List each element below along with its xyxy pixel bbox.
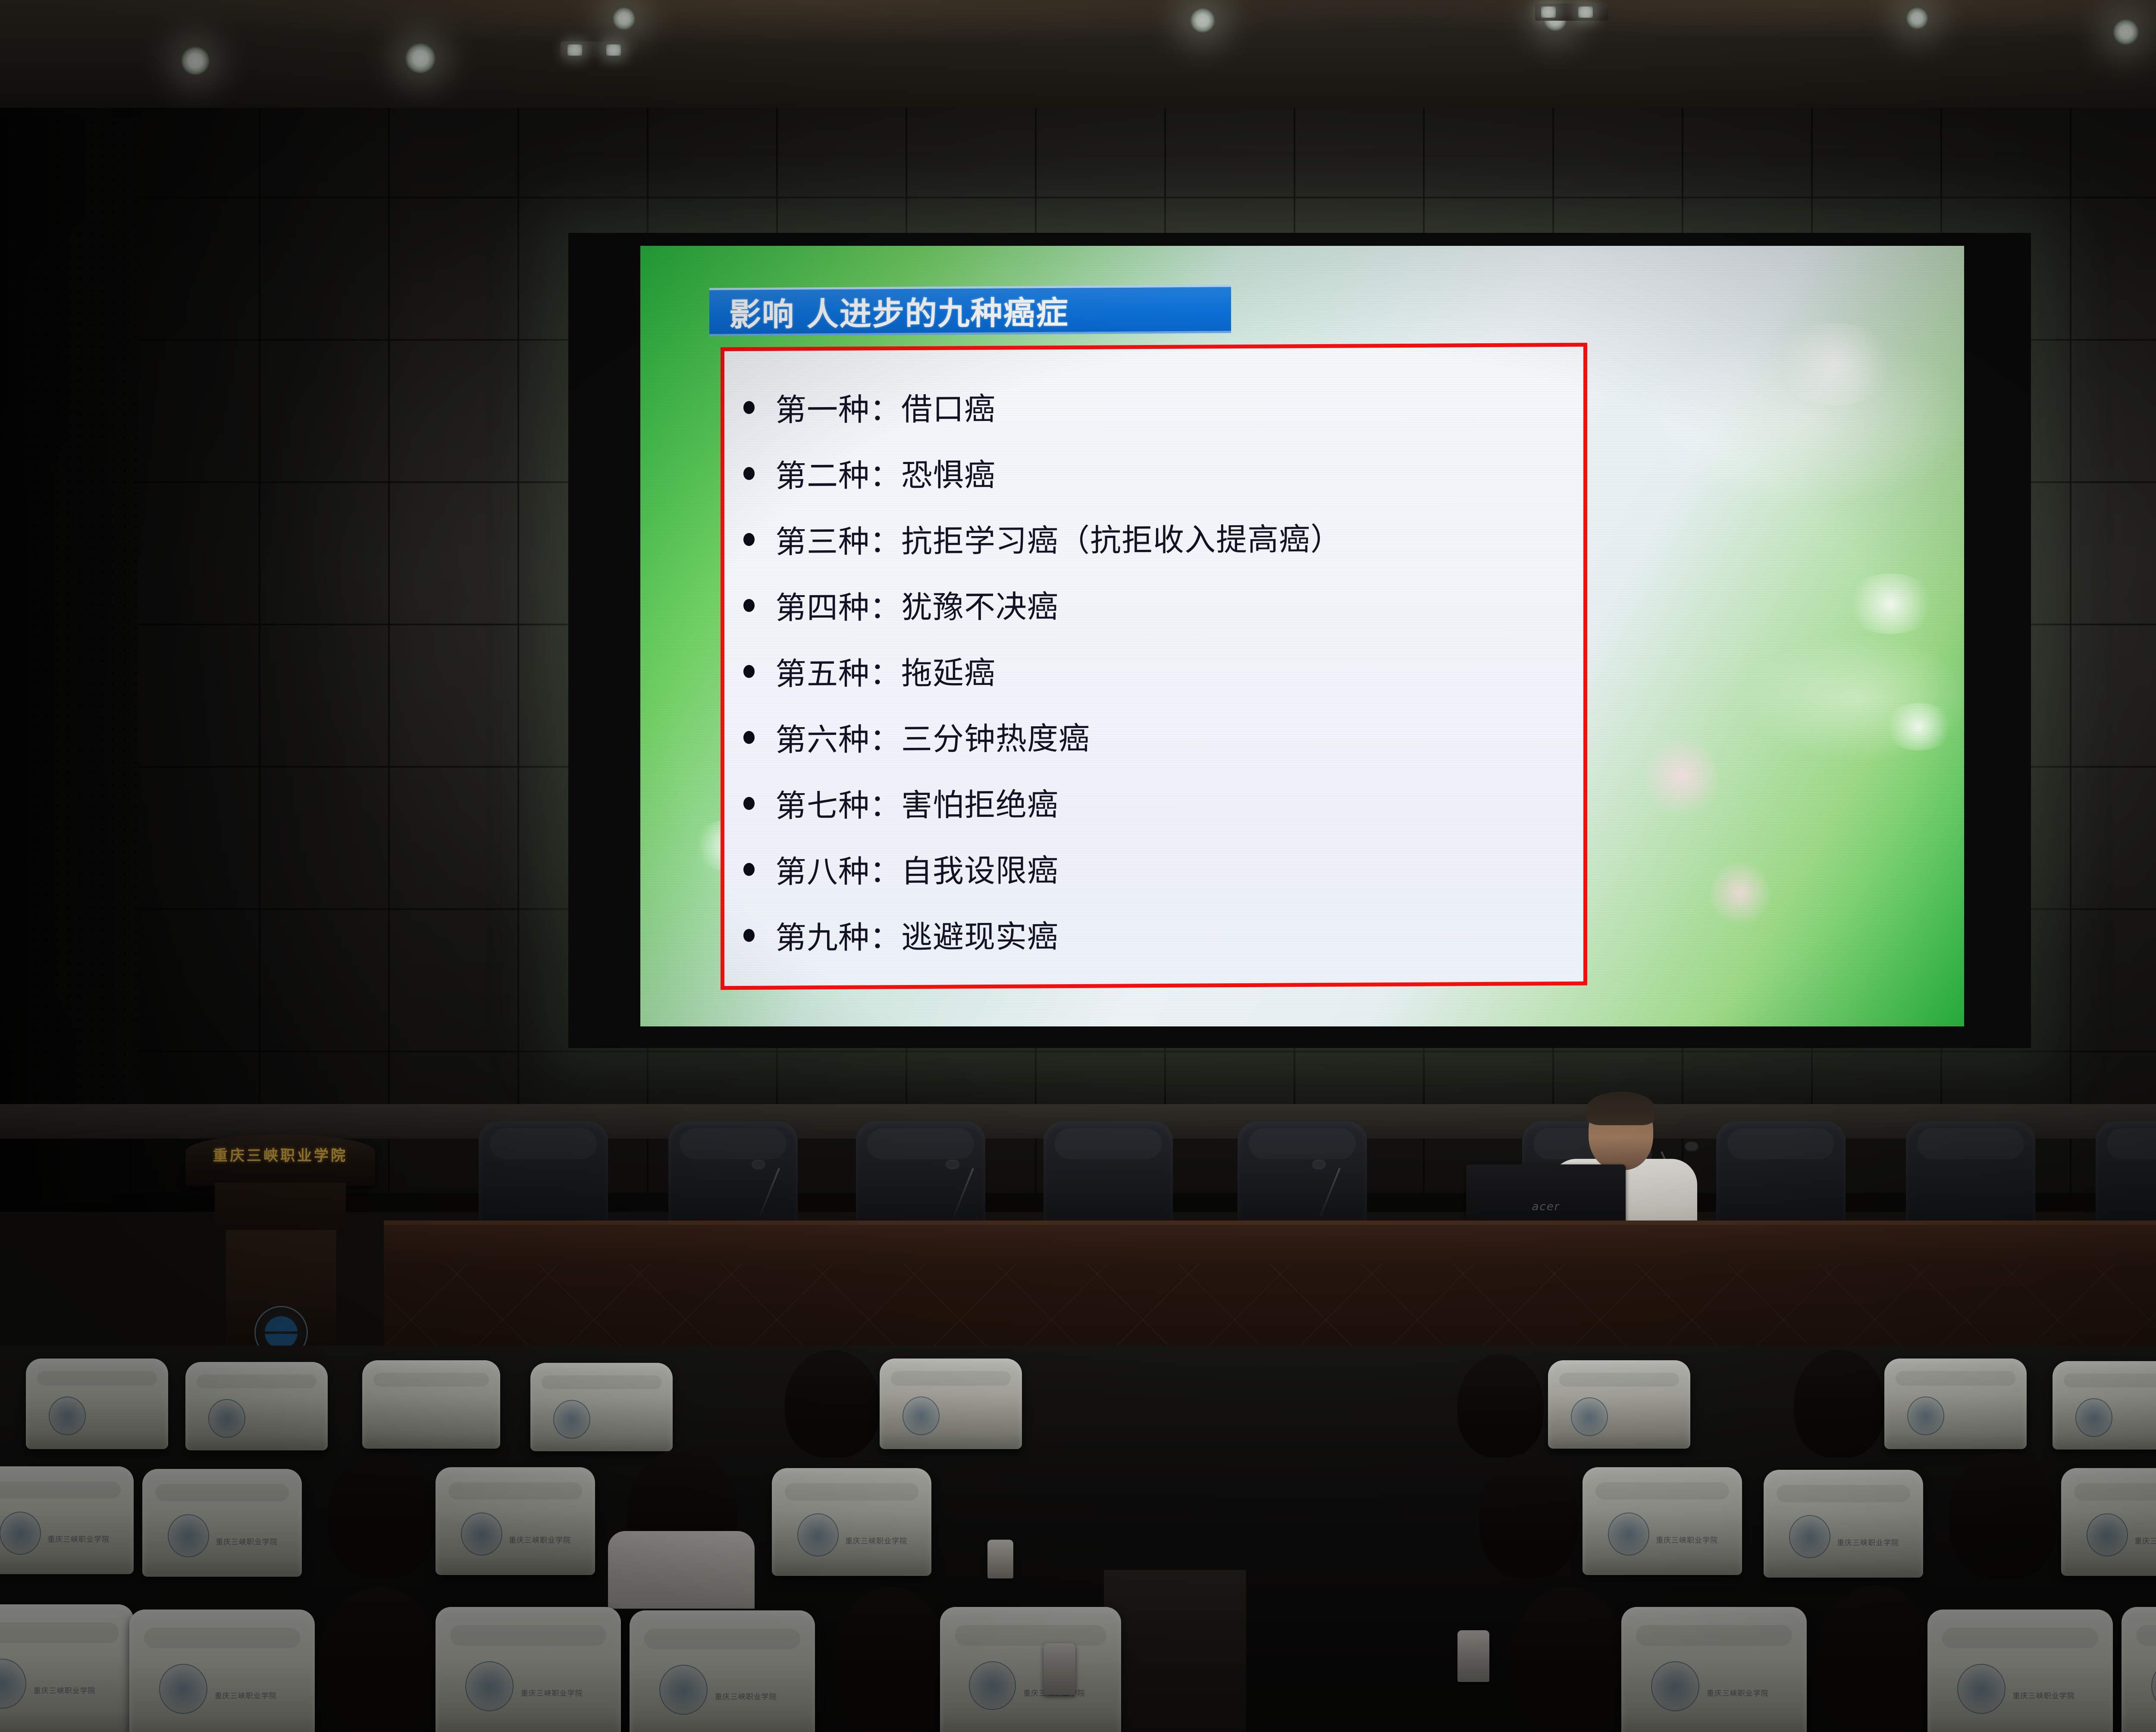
college-emblem-icon bbox=[465, 1661, 514, 1711]
college-emblem-icon bbox=[659, 1665, 708, 1715]
stage-chair bbox=[668, 1121, 798, 1229]
list-item: 第二种：恐惧癌 bbox=[724, 436, 1583, 506]
college-emblem-icon bbox=[903, 1396, 940, 1435]
audience-person bbox=[1949, 1453, 2057, 1580]
stage-chair bbox=[1044, 1121, 1173, 1229]
college-emblem-icon bbox=[797, 1513, 839, 1556]
audience-person bbox=[1479, 1453, 1578, 1578]
podium-neck bbox=[215, 1183, 346, 1233]
audience-seat bbox=[1884, 1359, 2027, 1449]
list-item-text: 第九种：逃避现实癌 bbox=[775, 911, 1059, 957]
bokeh-highlight bbox=[1770, 323, 1899, 405]
audience-seat: 重庆三峡职业学院 bbox=[2122, 1607, 2156, 1732]
petal-decoration bbox=[1645, 733, 1718, 819]
audience-person bbox=[1457, 1354, 1544, 1458]
speaker-hair bbox=[1587, 1092, 1655, 1125]
audience-seat: 重庆三峡职业学院 bbox=[0, 1604, 134, 1732]
audience-person-shirt bbox=[608, 1531, 755, 1609]
stage-chair bbox=[1238, 1121, 1367, 1229]
list-item: 第八种：自我设限癌 bbox=[724, 832, 1583, 902]
audience-seat: 重庆三峡职业学院 bbox=[630, 1610, 815, 1732]
bokeh-highlight bbox=[1882, 703, 1955, 750]
audience-person bbox=[319, 1587, 440, 1732]
stage-chair bbox=[1716, 1121, 1846, 1229]
slide-title-text: 影响 人进步的九种癌症 bbox=[709, 287, 1069, 335]
college-emblem-icon bbox=[2087, 1513, 2128, 1556]
audience-seat bbox=[880, 1359, 1022, 1449]
bullet-dot-icon bbox=[743, 797, 755, 810]
college-emblem-icon bbox=[1907, 1396, 1944, 1435]
college-emblem-icon bbox=[1789, 1515, 1830, 1558]
microphone-head-icon bbox=[1313, 1161, 1325, 1168]
list-item-text: 第六种：三分钟热度癌 bbox=[775, 713, 1090, 760]
audience-seat bbox=[362, 1360, 500, 1449]
bullet-dot-icon bbox=[743, 599, 755, 612]
audience-seat: 重庆三峡职业学院 bbox=[1583, 1467, 1742, 1575]
list-item-text: 第七种：害怕拒绝癌 bbox=[775, 779, 1059, 825]
list-item: 第一种：借口癌 bbox=[724, 370, 1583, 440]
audience-seat: 重庆三峡职业学院 bbox=[1621, 1607, 1807, 1732]
laptop-brand-label: acer bbox=[1532, 1200, 1560, 1213]
bokeh-highlight bbox=[1843, 574, 1938, 634]
audience-seat: 重庆三峡职业学院 bbox=[1764, 1470, 1923, 1578]
seat-cover-label: 重庆三峡职业学院 bbox=[1656, 1534, 1718, 1545]
college-emblem-icon bbox=[969, 1661, 1016, 1710]
bullet-dot-icon bbox=[743, 533, 755, 546]
college-emblem-icon bbox=[49, 1396, 86, 1435]
audience-seat: 重庆三峡职业学院 bbox=[129, 1610, 315, 1732]
list-item: 第五种：拖延癌 bbox=[724, 634, 1583, 704]
seat-armrest bbox=[1457, 1630, 1489, 1682]
seat-cover-label: 重庆三峡职业学院 bbox=[509, 1534, 571, 1545]
bullet-dot-icon bbox=[743, 467, 755, 480]
audience-seat: 重庆三峡职业学院 bbox=[142, 1469, 302, 1577]
audience-seat: 重庆三峡职业学院 bbox=[1927, 1610, 2113, 1732]
college-emblem-icon bbox=[553, 1400, 590, 1439]
college-emblem-icon bbox=[168, 1514, 209, 1557]
seat-cover-label: 重庆三峡职业学院 bbox=[1837, 1537, 1899, 1547]
ceiling-downlight-icon bbox=[181, 47, 210, 75]
list-item-text: 第一种：借口癌 bbox=[775, 383, 996, 430]
college-emblem-icon bbox=[208, 1399, 245, 1438]
seat-cover-label: 重庆三峡职业学院 bbox=[2134, 1535, 2156, 1546]
seat-cover-label: 重庆三峡职业学院 bbox=[521, 1687, 583, 1698]
seat-cover-label: 重庆三峡职业学院 bbox=[216, 1536, 278, 1547]
bullet-dot-icon bbox=[743, 665, 755, 678]
podium-name-plate: 重庆三峡职业学院 bbox=[185, 1144, 375, 1165]
list-item: 第三种：抗拒学习癌（抗拒收入提高癌） bbox=[724, 502, 1583, 572]
list-item-text: 第二种：恐惧癌 bbox=[775, 449, 996, 496]
ceiling-glow bbox=[0, 0, 2156, 60]
audience-seat: 重庆三峡职业学院 bbox=[436, 1607, 621, 1732]
ceiling-downlight-icon bbox=[405, 43, 436, 73]
slide-title-banner: 影响 人进步的九种癌症 bbox=[709, 285, 1231, 336]
list-item: 第九种：逃避现实癌 bbox=[724, 898, 1583, 968]
stage-chair bbox=[1906, 1121, 2035, 1229]
audience-person bbox=[1509, 1587, 1628, 1732]
slide-bullet-list: 第一种：借口癌 第二种：恐惧癌 第三种：抗拒学习癌（抗拒收入提高癌） 第四种：犹… bbox=[724, 347, 1583, 968]
seat-cover-label: 重庆三峡职业学院 bbox=[2013, 1690, 2075, 1701]
audience-seat: 重庆三峡职业学院 bbox=[772, 1468, 931, 1576]
bullet-dot-icon bbox=[743, 401, 755, 414]
audience-seat bbox=[185, 1362, 328, 1450]
seat-cover-label: 重庆三峡职业学院 bbox=[34, 1685, 96, 1695]
audience-person bbox=[785, 1350, 880, 1458]
college-emblem-icon bbox=[159, 1664, 207, 1714]
auditorium-photo: 影响 人进步的九种癌症 第一种：借口癌 第二种：恐惧癌 第三种：抗拒学习癌（抗拒… bbox=[0, 0, 2156, 1732]
list-item-text: 第四种：犹豫不决癌 bbox=[775, 581, 1059, 628]
ceiling-downlight-icon bbox=[2113, 19, 2139, 45]
college-emblem-icon bbox=[461, 1512, 502, 1556]
ceiling-striplight bbox=[1535, 3, 1608, 21]
microphone-head-icon bbox=[947, 1161, 958, 1168]
ceiling-striplight bbox=[561, 41, 638, 60]
audience-seat: 重庆三峡职业学院 bbox=[940, 1607, 1121, 1732]
college-emblem-icon bbox=[0, 1512, 41, 1555]
seat-cover-label: 重庆三峡职业学院 bbox=[1707, 1687, 1769, 1698]
projection-screen: 影响 人进步的九种癌症 第一种：借口癌 第二种：恐惧癌 第三种：抗拒学习癌（抗拒… bbox=[640, 246, 1964, 1026]
audience-person bbox=[1815, 1585, 1936, 1732]
bullet-dot-icon bbox=[743, 929, 755, 941]
audience-seat bbox=[26, 1359, 168, 1449]
audience-seat bbox=[530, 1363, 673, 1451]
microphone-head-icon bbox=[753, 1161, 764, 1168]
stage-chair bbox=[479, 1121, 608, 1229]
list-item-text: 第五种：拖延癌 bbox=[775, 647, 996, 694]
ceiling-downlight-icon bbox=[1906, 7, 1928, 29]
list-item: 第七种：害怕拒绝癌 bbox=[724, 766, 1583, 836]
seat-cover-label: 重庆三峡职业学院 bbox=[715, 1691, 777, 1701]
audience-area: 重庆三峡职业学院 重庆三峡职业学院 重庆三峡职业学院 重庆三峡职业学院 重庆三峡… bbox=[0, 1346, 2156, 1732]
audience-seat: 重庆三峡职业学院 bbox=[2061, 1468, 2156, 1576]
bullet-dot-icon bbox=[743, 863, 755, 875]
college-emblem-icon bbox=[1957, 1664, 2006, 1714]
audience-person bbox=[1794, 1350, 1884, 1458]
slide-content-box: 第一种：借口癌 第二种：恐惧癌 第三种：抗拒学习癌（抗拒收入提高癌） 第四种：犹… bbox=[721, 343, 1587, 990]
audience-seat bbox=[2053, 1361, 2156, 1450]
emblem-inner-mark bbox=[265, 1316, 298, 1349]
bullet-dot-icon bbox=[743, 731, 755, 744]
seat-armrest bbox=[987, 1540, 1013, 1578]
petal-decoration bbox=[1710, 858, 1770, 927]
ceiling-downlight-icon bbox=[1190, 8, 1215, 33]
audience-person bbox=[832, 1587, 949, 1732]
seat-cover-label: 重庆三峡职业学院 bbox=[215, 1690, 277, 1701]
list-item: 第四种：犹豫不决癌 bbox=[724, 568, 1583, 638]
college-emblem-icon bbox=[2151, 1661, 2156, 1711]
college-emblem-icon bbox=[1608, 1512, 1649, 1556]
seat-cover-label: 重庆三峡职业学院 bbox=[845, 1535, 907, 1546]
college-emblem-icon bbox=[1651, 1661, 1699, 1711]
list-item-text: 第八种：自我设限癌 bbox=[775, 845, 1059, 891]
audience-seat: 重庆三峡职业学院 bbox=[0, 1466, 134, 1574]
seat-cover-label: 重庆三峡职业学院 bbox=[47, 1533, 110, 1544]
stage-chair bbox=[2096, 1121, 2156, 1229]
college-emblem-icon bbox=[2075, 1398, 2112, 1437]
audience-seat: 重庆三峡职业学院 bbox=[436, 1467, 595, 1575]
audience-seat bbox=[1548, 1360, 1690, 1449]
podium: 重庆三峡职业学院 1936 bbox=[185, 1117, 375, 1367]
college-emblem-icon bbox=[1571, 1397, 1608, 1436]
college-emblem-icon bbox=[0, 1659, 26, 1709]
list-item: 第六种：三分钟热度癌 bbox=[724, 700, 1583, 770]
seat-armrest bbox=[1044, 1643, 1075, 1695]
list-item-text: 第三种：抗拒学习癌（抗拒收入提高癌） bbox=[775, 514, 1342, 562]
stage-chair bbox=[856, 1121, 985, 1229]
audience-person bbox=[328, 1453, 436, 1578]
center-aisle bbox=[1104, 1570, 1246, 1732]
ceiling-downlight-icon bbox=[612, 7, 636, 30]
